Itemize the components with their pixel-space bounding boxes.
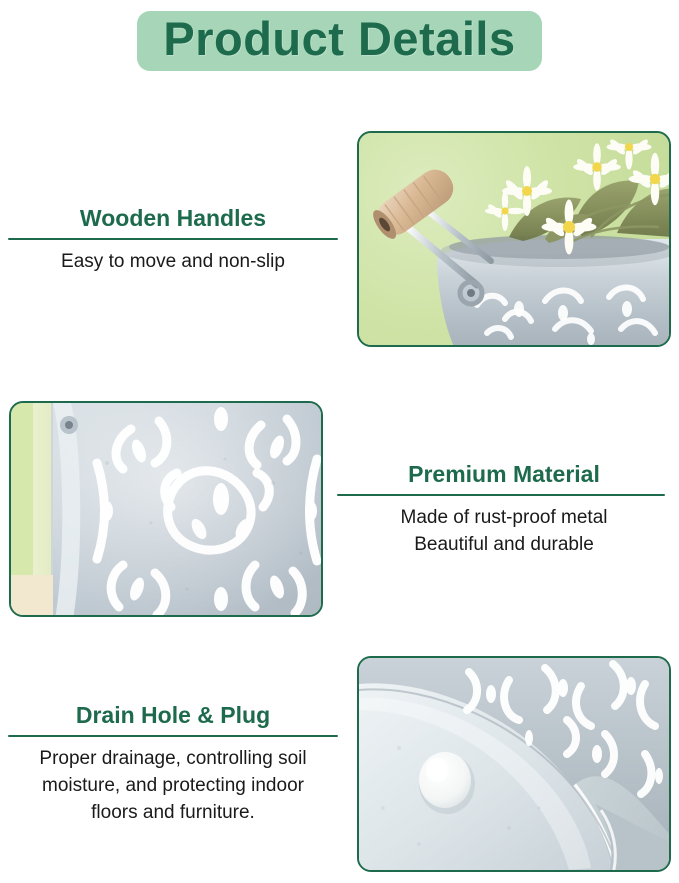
feature-row-wooden-handles: Wooden Handles Easy to move and non-slip bbox=[0, 104, 679, 374]
feature-photo-cell bbox=[348, 656, 679, 872]
feature-photo-cell bbox=[348, 131, 679, 347]
feature-divider bbox=[8, 735, 338, 737]
page-header: Product Details bbox=[0, 0, 679, 104]
feature-text-block: Premium Material Made of rust-proof meta… bbox=[331, 460, 679, 558]
feature-heading: Drain Hole & Plug bbox=[8, 701, 338, 729]
feature-description: Easy to move and non-slip bbox=[8, 248, 338, 275]
feature-description-line: floors and furniture. bbox=[8, 799, 338, 826]
feature-description-line: Proper drainage, controlling soil bbox=[8, 745, 338, 772]
photo-embossed-damask bbox=[9, 401, 323, 617]
feature-description: Proper drainage, controlling soil moistu… bbox=[8, 745, 338, 826]
feature-divider bbox=[8, 238, 338, 240]
feature-text-block: Wooden Handles Easy to move and non-slip bbox=[0, 204, 348, 275]
photo-wooden-handle-planter bbox=[357, 131, 671, 347]
planter-illustration bbox=[359, 133, 671, 347]
feature-description-line: Made of rust-proof metal bbox=[337, 504, 671, 531]
feature-divider bbox=[337, 494, 665, 496]
feature-description: Made of rust-proof metal Beautiful and d… bbox=[337, 504, 671, 558]
damask-pattern-illustration bbox=[11, 403, 323, 617]
feature-heading: Wooden Handles bbox=[8, 204, 338, 232]
feature-description-line: Easy to move and non-slip bbox=[8, 248, 338, 275]
page-title: Product Details bbox=[163, 12, 515, 66]
feature-text-block: Drain Hole & Plug Proper drainage, contr… bbox=[0, 701, 348, 826]
feature-heading: Premium Material bbox=[337, 460, 671, 488]
feature-description-line: Beautiful and durable bbox=[337, 531, 671, 558]
feature-row-premium-material: Premium Material Made of rust-proof meta… bbox=[0, 374, 679, 644]
title-banner: Product Details bbox=[137, 11, 541, 71]
feature-description-line: moisture, and protecting indoor bbox=[8, 772, 338, 799]
feature-photo-cell bbox=[0, 401, 331, 617]
drain-plug-illustration bbox=[359, 658, 671, 872]
feature-row-drain-hole: Drain Hole & Plug Proper drainage, contr… bbox=[0, 644, 679, 883]
photo-drain-hole-plug bbox=[357, 656, 671, 872]
